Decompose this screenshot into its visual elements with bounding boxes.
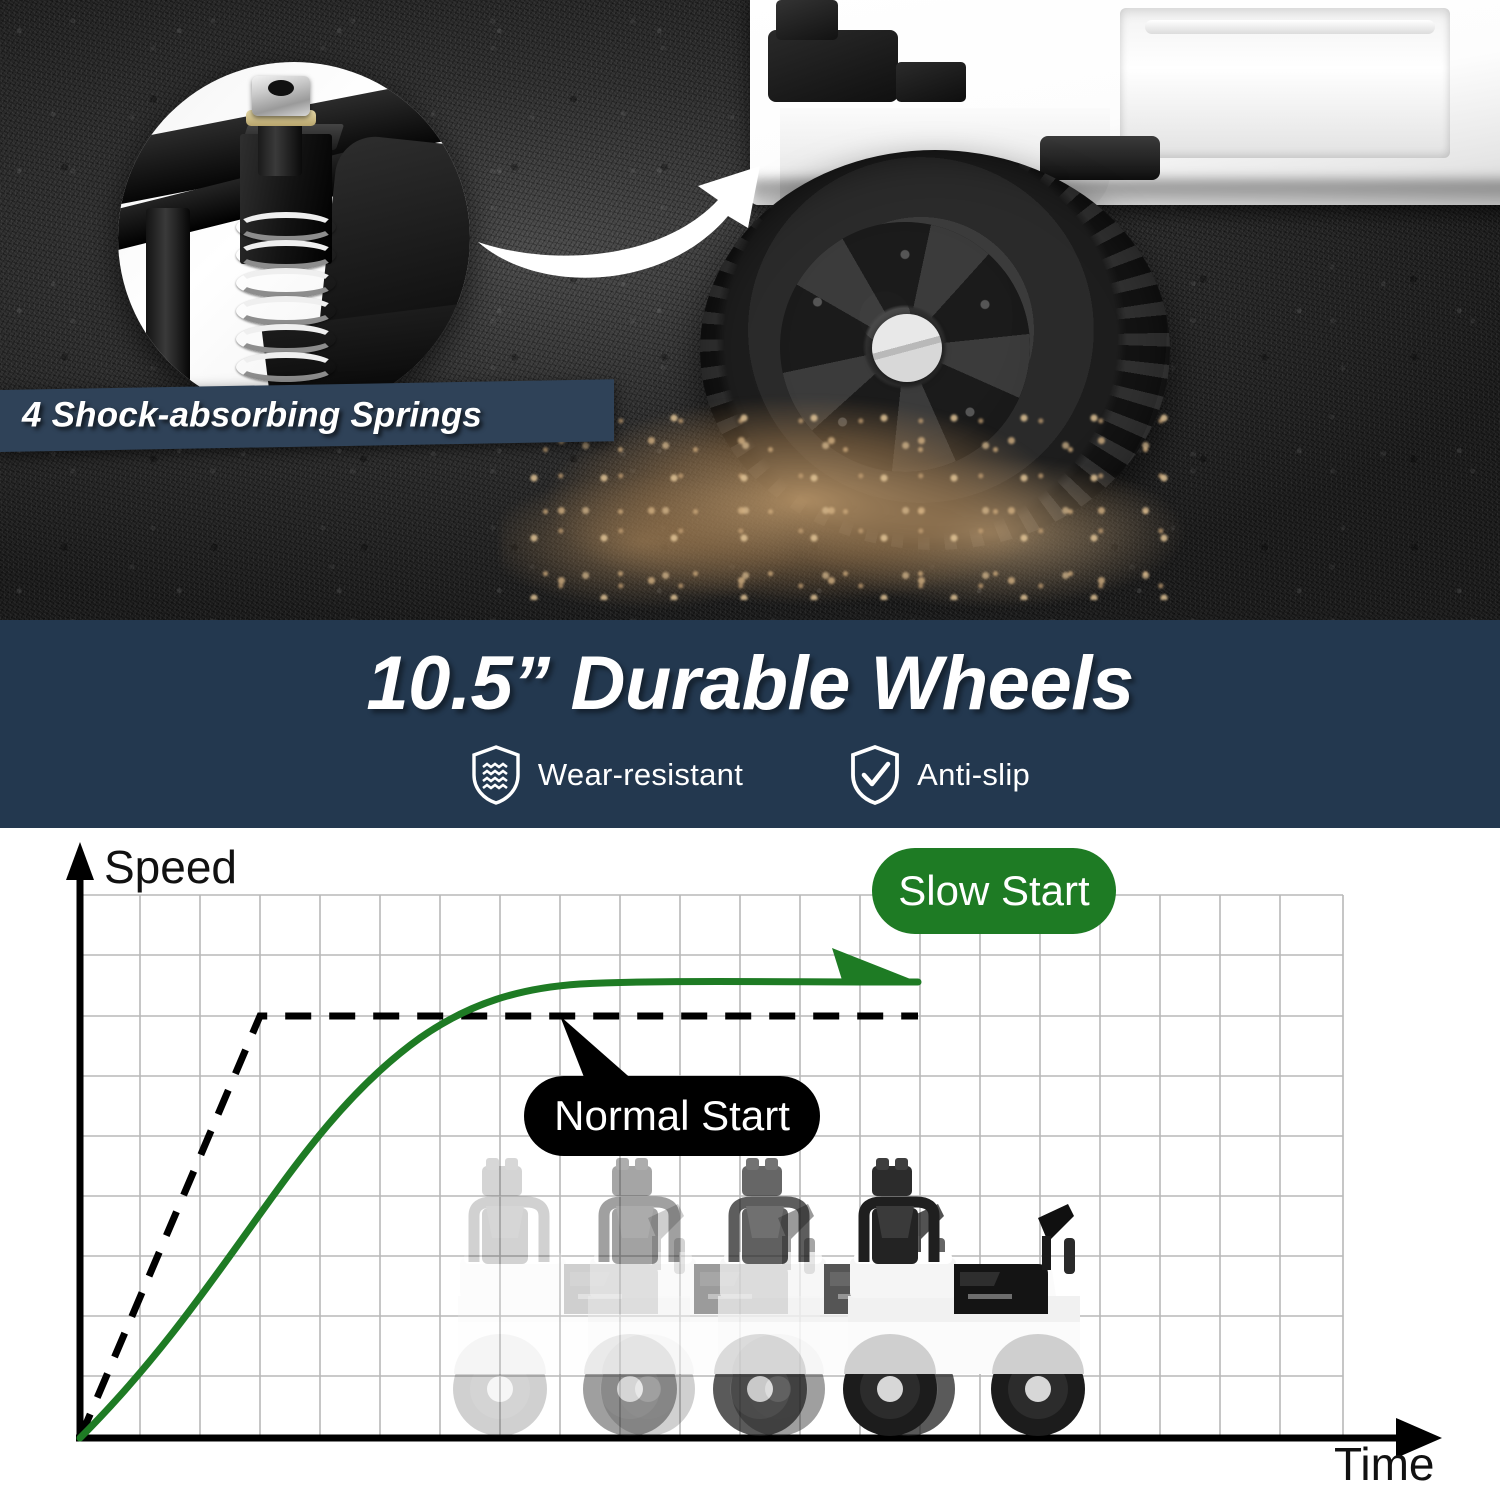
curved-pointer-arrow: [430, 150, 830, 350]
normal-start-callout: Normal Start: [524, 1016, 820, 1156]
shield-waves-icon: [470, 744, 522, 806]
headline-band: 10.5” Durable Wheels Wear-resistant Anti…: [0, 620, 1500, 828]
wheel-photo-section: 4 Shock-absorbing Springs: [0, 0, 1500, 622]
bolt-shaft: [258, 118, 302, 176]
car-bed-lip: [1145, 20, 1435, 34]
car-black-motor: [896, 62, 966, 102]
y-axis-label: Speed: [104, 841, 237, 893]
feature-wear-resistant: Wear-resistant: [470, 744, 743, 806]
car-black-bracket: [776, 0, 838, 40]
car-solid: [843, 1158, 1085, 1436]
shock-spring-closeup: [118, 62, 470, 414]
y-axis-arrowhead: [66, 842, 94, 880]
coil-spring: [236, 212, 336, 392]
shock-rod: [146, 208, 190, 394]
springs-banner: 4 Shock-absorbing Springs: [0, 379, 614, 452]
lock-nut: [252, 76, 310, 116]
normal-start-label: Normal Start: [554, 1092, 790, 1139]
feature-label-wear-resistant: Wear-resistant: [538, 757, 743, 793]
car-motion-sequence: [453, 1158, 1085, 1436]
page-title: 10.5” Durable Wheels: [0, 620, 1500, 722]
car-black-panel: [768, 30, 898, 102]
speed-time-chart: Slow Start Normal Start Speed Time: [0, 828, 1500, 1488]
feature-label-anti-slip: Anti-slip: [917, 757, 1030, 793]
slow-start-callout: Slow Start: [832, 848, 1116, 982]
wheel-hub-cap: [872, 314, 942, 382]
springs-banner-label: 4 Shock-absorbing Springs: [0, 385, 614, 447]
x-axis-label: Time: [1334, 1438, 1435, 1488]
dust-particles: [520, 400, 1180, 600]
shield-check-icon: [849, 744, 901, 806]
feature-anti-slip: Anti-slip: [849, 744, 1030, 806]
feature-badges: Wear-resistant Anti-slip: [0, 744, 1500, 806]
slow-start-label: Slow Start: [898, 867, 1090, 914]
